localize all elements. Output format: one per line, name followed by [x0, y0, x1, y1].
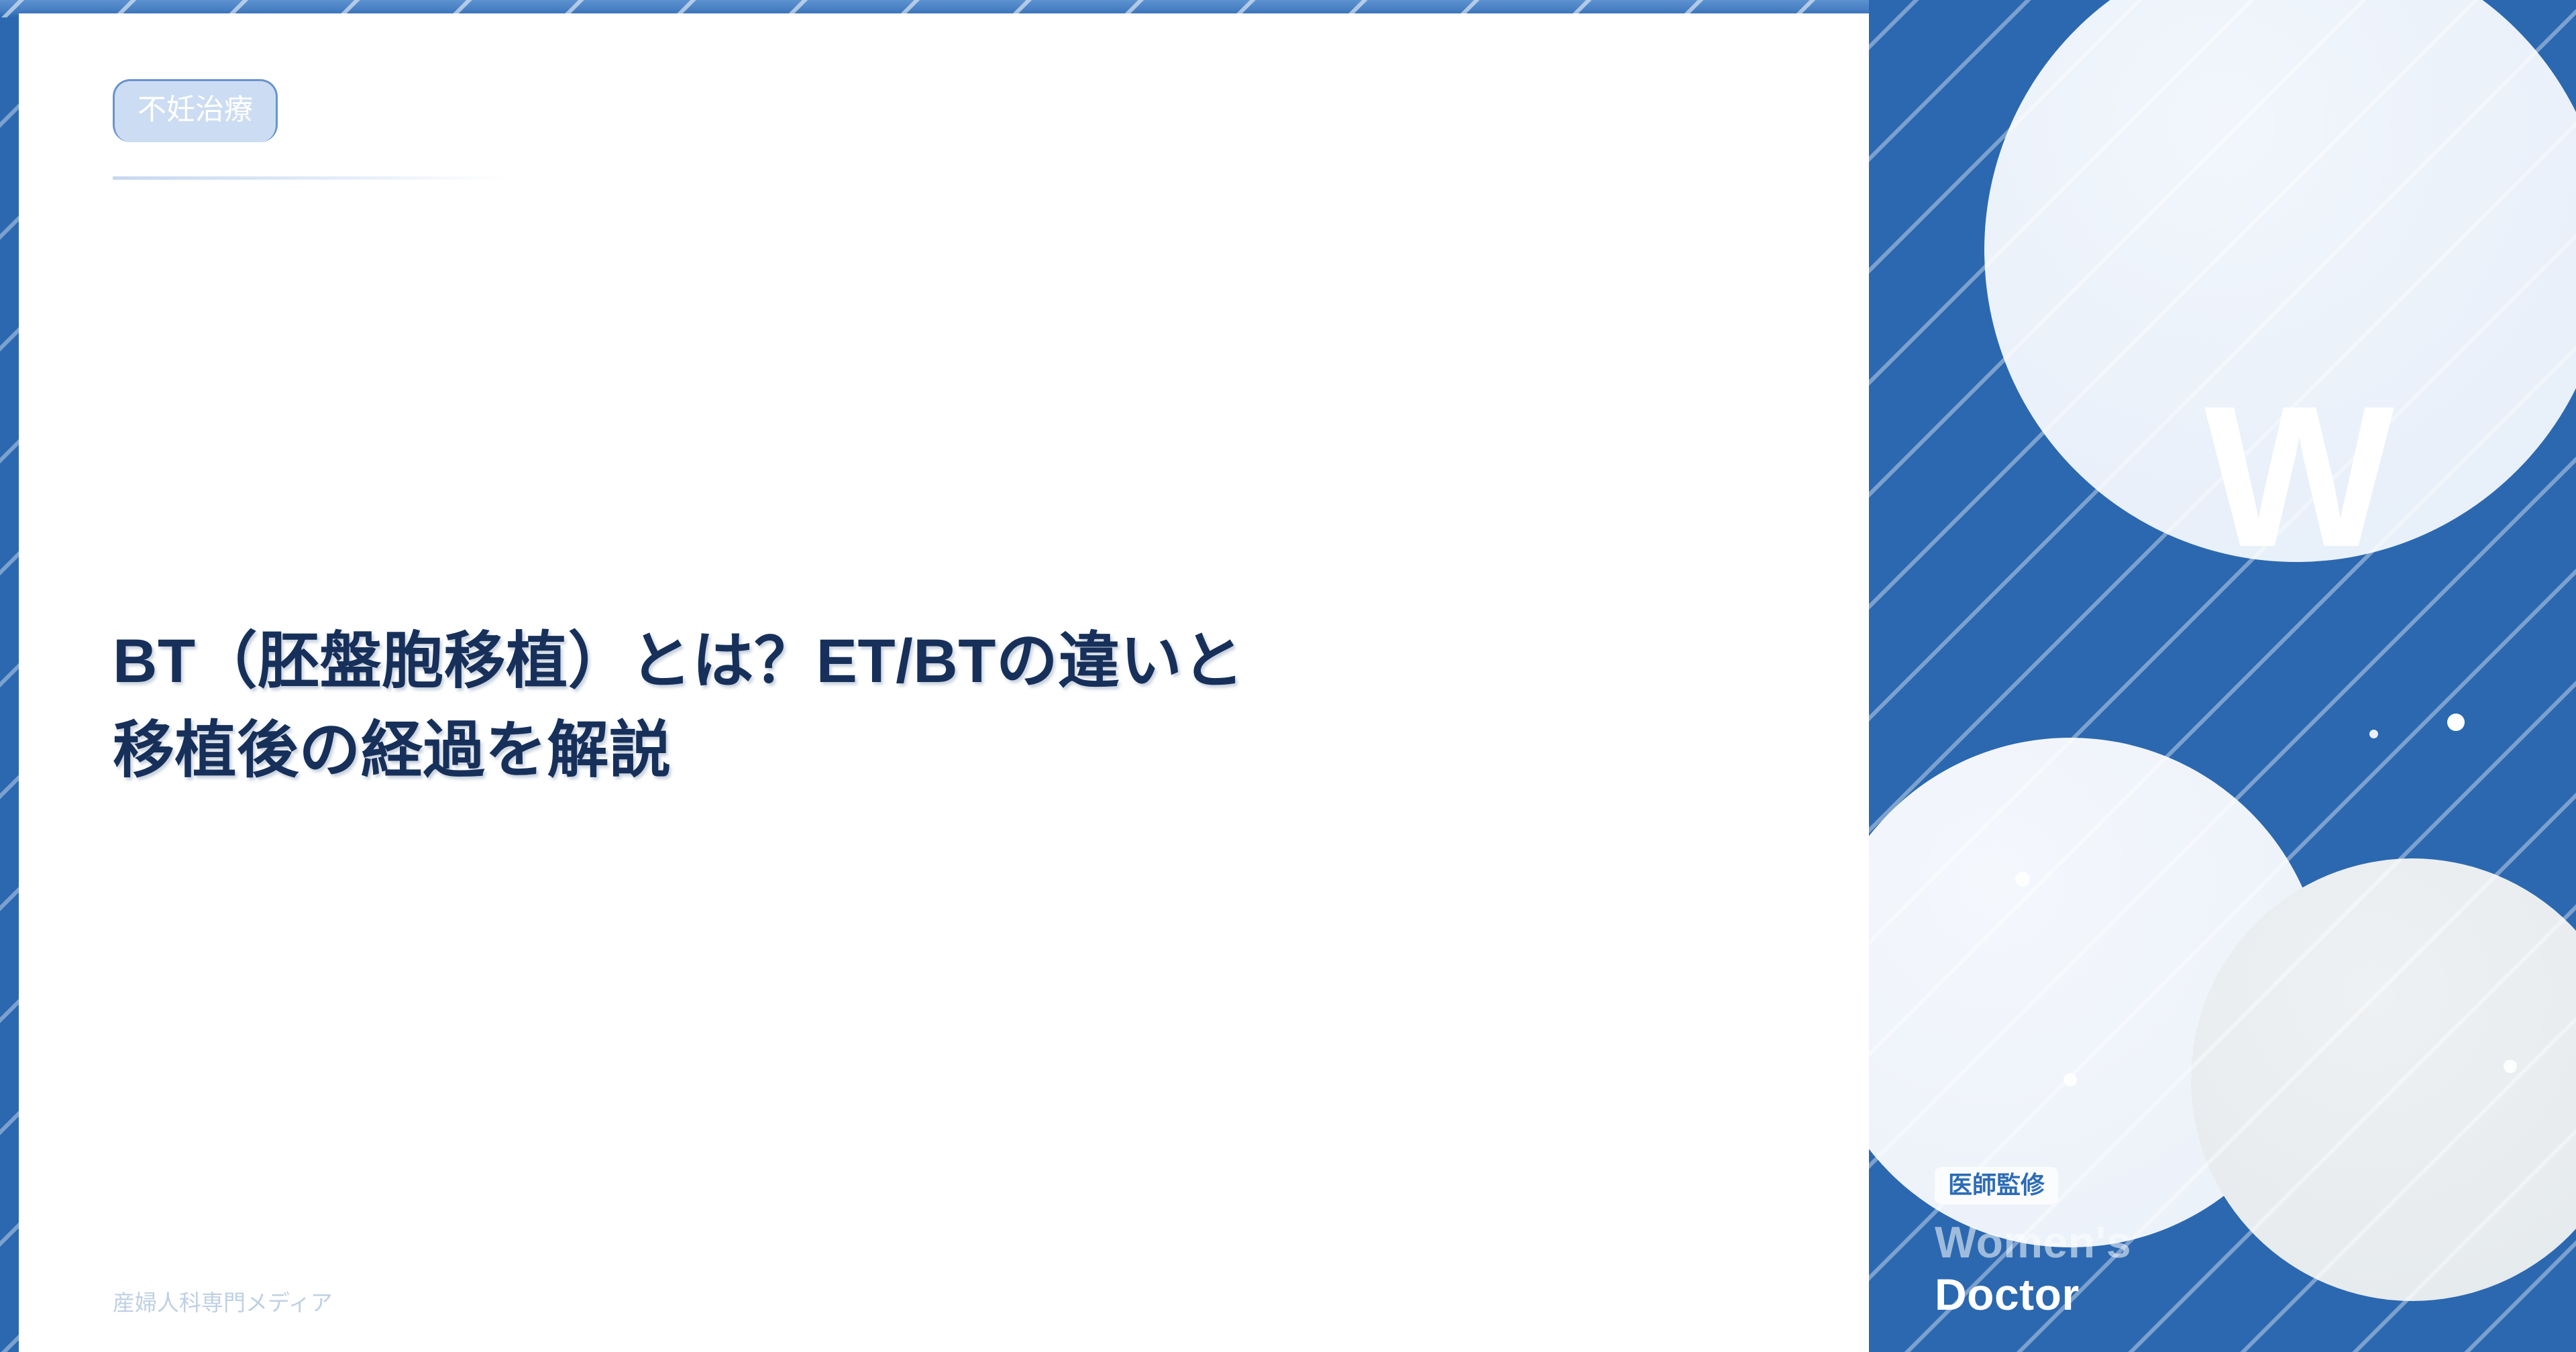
- brand-identity-block: 医師監修 Women's Doctor: [1935, 1167, 2351, 1321]
- brand-panel: W 医師監修 Women's Doctor: [1869, 0, 2576, 1352]
- brand-name-line-1: Women's: [1935, 1217, 2351, 1269]
- brand-name-line-2: Doctor: [1935, 1269, 2351, 1321]
- decor-dot: [2369, 730, 2378, 738]
- status-badge-doctor-supervised: 医師監修: [1935, 1167, 2058, 1204]
- brand-name: Women's Doctor: [1935, 1217, 2351, 1321]
- slide-canvas: W 医師監修 Women's Doctor 不妊治療 BT（胚盤胞移植）とは？E…: [0, 0, 2576, 1352]
- page-title-line-1: BT（胚盤胞移植）とは？ET/BTの違いと: [113, 617, 1656, 706]
- page-title: BT（胚盤胞移植）とは？ET/BTの違いと 移植後の経過を解説: [113, 617, 1656, 796]
- page-title-line-2: 移植後の経過を解説: [113, 706, 1656, 795]
- category-badge[interactable]: 不妊治療: [113, 79, 278, 142]
- category-underline-divider: [113, 176, 508, 180]
- brand-logo-mark-w: W: [2204, 376, 2389, 577]
- decor-dot: [2015, 872, 2030, 887]
- site-tagline: 産婦人科専門メディア: [113, 1292, 333, 1314]
- decor-dot: [2063, 1073, 2077, 1086]
- content-card: 不妊治療 BT（胚盤胞移植）とは？ET/BTの違いと 移植後の経過を解説 産婦人…: [19, 13, 1869, 1352]
- decor-dot: [2504, 1060, 2517, 1073]
- decor-dot: [2447, 714, 2465, 731]
